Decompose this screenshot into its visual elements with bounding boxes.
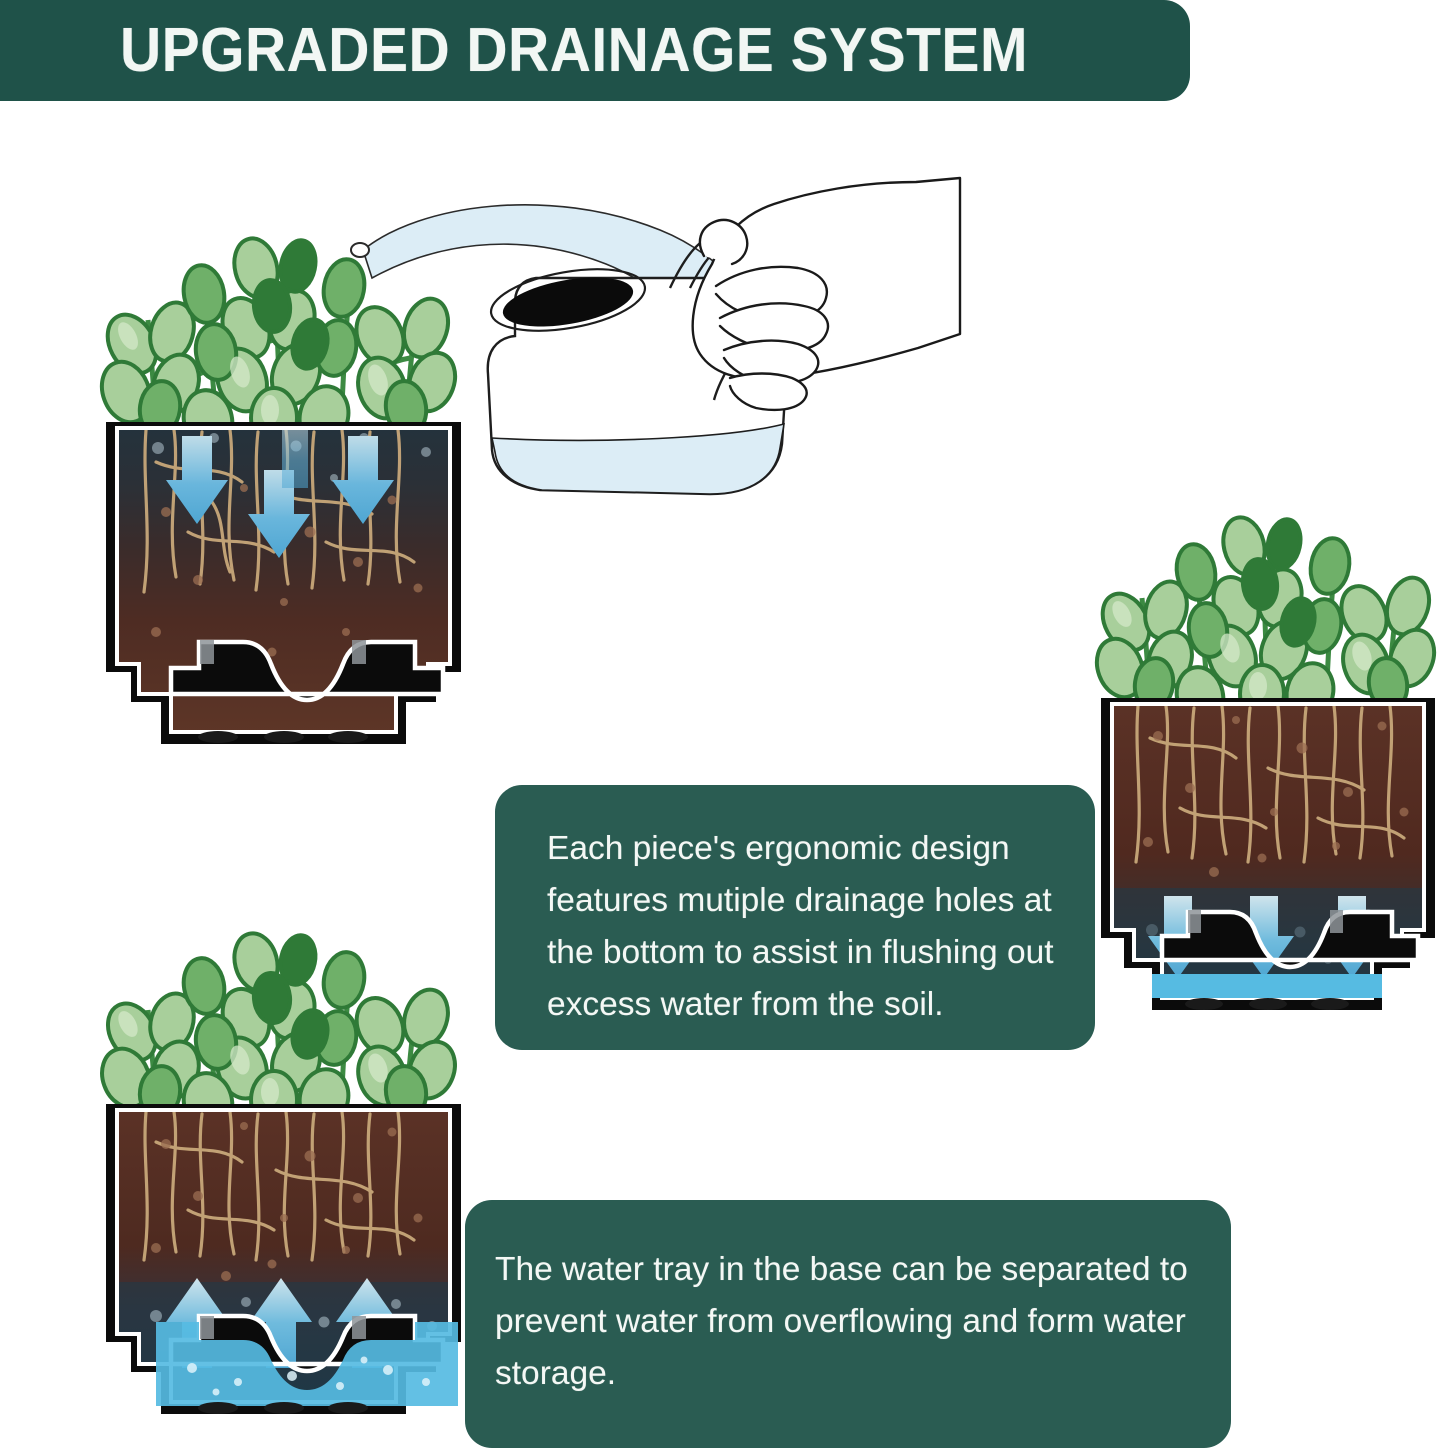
callout-drainage-holes-text: Each piece's ergonomic design features m… [547,823,1073,1031]
planter-bottom-left-illustration [96,930,471,1442]
planter-right-illustration [1092,512,1444,1037]
page-title: UPGRADED DRAINAGE SYSTEM [120,15,1028,86]
callout-water-tray-text: The water tray in the base can be separa… [495,1244,1209,1400]
callout-drainage-holes: Each piece's ergonomic design features m… [495,785,1095,1050]
base-feet [1185,998,1349,1010]
plant-foliage [1089,513,1442,729]
base-feet [198,731,368,743]
callout-water-tray: The water tray in the base can be separa… [465,1200,1231,1448]
hand [693,178,960,410]
tray-water [1152,974,1382,998]
header-banner: UPGRADED DRAINAGE SYSTEM [0,0,1190,101]
watering-hand-illustration [300,138,960,498]
infographic-canvas: UPGRADED DRAINAGE SYSTEM [0,0,1445,1448]
base-feet [198,1402,368,1414]
stream-nozzle-ring [351,243,369,257]
